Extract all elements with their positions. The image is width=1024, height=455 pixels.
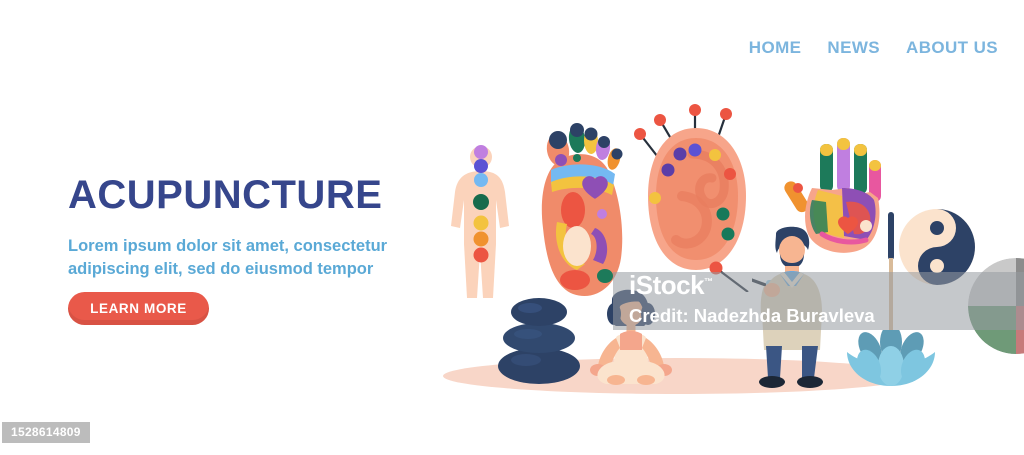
istock-wordmark: iStock xyxy=(629,270,704,300)
chakra-dot-root xyxy=(474,248,489,263)
watermark-credit: Credit: Nadezhda Buravleva xyxy=(629,307,875,326)
acupoint xyxy=(689,144,702,157)
acupoint xyxy=(709,149,721,161)
chakra-dot-sacral xyxy=(474,232,489,247)
zen-stones-stack xyxy=(498,292,580,384)
page-title: ACUPUNCTURE xyxy=(68,175,382,215)
doctor-leg xyxy=(802,346,818,378)
top-navigation: HOME NEWS ABOUT US xyxy=(749,38,998,58)
ear-acupuncture-diagram xyxy=(630,92,770,292)
lotus-flower xyxy=(843,330,939,386)
chakra-dot-third-eye xyxy=(474,159,488,173)
hero-subtitle: Lorem ipsum dolor sit amet, consectetur … xyxy=(68,235,408,283)
chakra-dot-solar xyxy=(474,216,489,231)
nav-item-news[interactable]: NEWS xyxy=(827,38,880,58)
acupoint xyxy=(662,164,675,177)
needle-head xyxy=(724,168,736,180)
acupoint xyxy=(722,228,735,241)
chakra-body-figure xyxy=(443,140,519,300)
hero-banner: HOME NEWS ABOUT US ACUPUNCTURE Lorem ips… xyxy=(0,0,1024,455)
chakra-dot-throat xyxy=(474,173,488,187)
needle-head xyxy=(720,108,732,120)
nav-item-about-us[interactable]: ABOUT US xyxy=(906,38,998,58)
nav-item-home[interactable]: HOME xyxy=(749,38,802,58)
chakra-dot-crown xyxy=(474,145,488,159)
needle-head xyxy=(634,128,646,140)
trademark-icon: ™ xyxy=(704,276,713,286)
needle-head xyxy=(689,104,701,116)
needle-head xyxy=(654,114,666,126)
asset-id-badge: 1528614809 xyxy=(2,422,90,443)
acupoint xyxy=(717,208,730,221)
acupoint xyxy=(649,192,661,204)
chakra-dot-heart xyxy=(473,194,489,210)
istock-logo: iStock™ xyxy=(629,272,713,298)
acupoint xyxy=(674,148,687,161)
doctor-leg xyxy=(766,346,782,378)
learn-more-button[interactable]: LEARN MORE xyxy=(68,292,209,325)
